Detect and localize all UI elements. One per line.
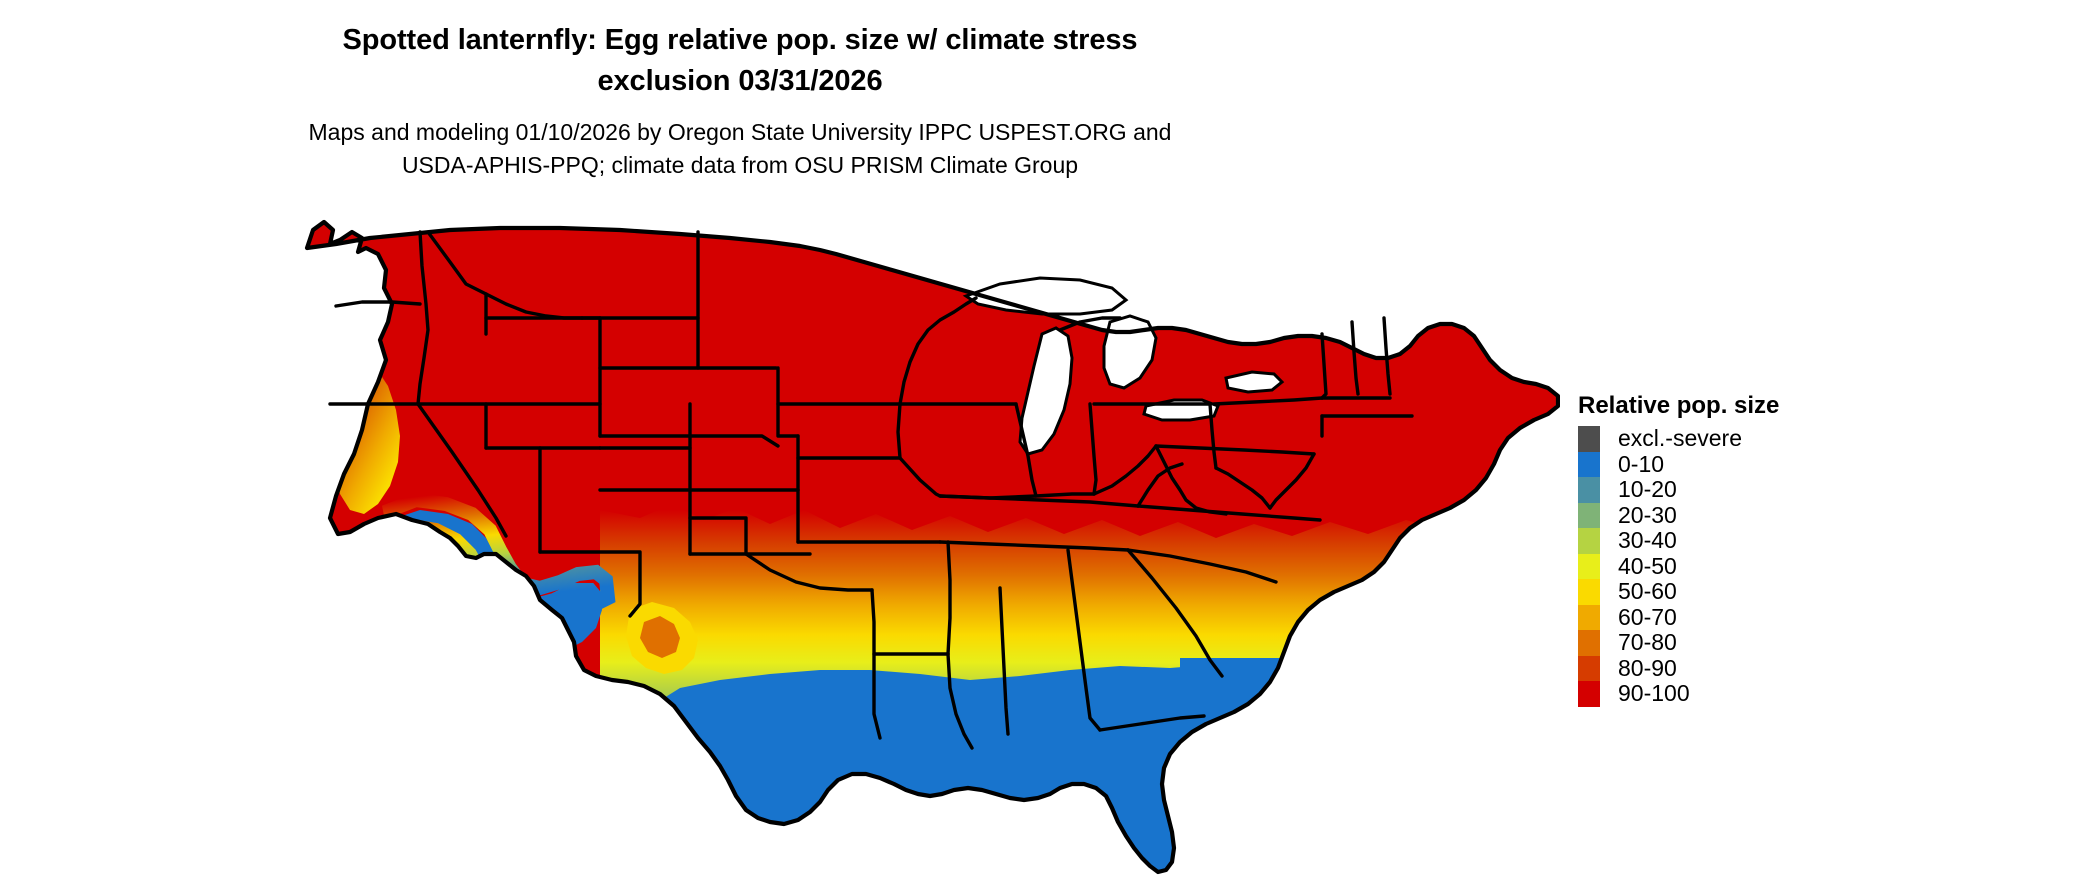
legend-title: Relative pop. size [1578,392,1779,420]
legend-item[interactable]: 50-60 [1578,579,1779,605]
legend-item[interactable]: 80-90 [1578,656,1779,682]
region-fill-gulf-south-0-10 [600,660,1560,878]
legend-swatch [1578,503,1600,529]
legend: Relative pop. size excl.-severe0-1010-20… [1578,392,1779,707]
legend-swatch [1578,605,1600,631]
legend-item[interactable]: 70-80 [1578,630,1779,656]
legend-swatch [1578,579,1600,605]
legend-swatch [1578,452,1600,478]
legend-item-label: 90-100 [1618,681,1690,707]
legend-item-label: 10-20 [1618,477,1677,503]
legend-item[interactable]: 60-70 [1578,605,1779,631]
legend-item-label: 50-60 [1618,579,1677,605]
legend-item-label: 60-70 [1618,605,1677,631]
legend-swatch [1578,630,1600,656]
legend-item[interactable]: 30-40 [1578,528,1779,554]
lake-ontario [1226,372,1282,392]
legend-swatch [1578,554,1600,580]
us-choropleth-map[interactable] [300,218,1560,878]
page-title: Spotted lanternfly: Egg relative pop. si… [0,20,1480,102]
legend-rows: excl.-severe0-1010-2020-3030-4040-5050-6… [1578,426,1779,707]
legend-item[interactable]: 20-30 [1578,503,1779,529]
border-mo-il [898,404,900,458]
legend-swatch [1578,681,1600,707]
region-fill-florida-0-10 [1180,658,1360,878]
legend-item-label: 70-80 [1618,630,1677,656]
legend-item[interactable]: excl.-severe [1578,426,1779,452]
page-subtitle: Maps and modeling 01/10/2026 by Oregon S… [0,116,1480,182]
legend-item-label: 80-90 [1618,656,1677,682]
legend-swatch [1578,656,1600,682]
legend-item-label: excl.-severe [1618,426,1742,452]
legend-item[interactable]: 10-20 [1578,477,1779,503]
legend-swatch [1578,528,1600,554]
legend-item[interactable]: 40-50 [1578,554,1779,580]
legend-item[interactable]: 0-10 [1578,452,1779,478]
legend-item-label: 40-50 [1618,554,1677,580]
map-page: Spotted lanternfly: Egg relative pop. si… [0,0,2100,892]
legend-item-label: 20-30 [1618,503,1677,529]
title-block: Spotted lanternfly: Egg relative pop. si… [0,20,1480,182]
legend-item-label: 30-40 [1618,528,1677,554]
legend-swatch [1578,426,1600,452]
legend-item-label: 0-10 [1618,452,1664,478]
border-ar-ms-tn [948,542,950,654]
map-canvas[interactable] [300,218,1560,878]
legend-item[interactable]: 90-100 [1578,681,1779,707]
legend-swatch [1578,477,1600,503]
